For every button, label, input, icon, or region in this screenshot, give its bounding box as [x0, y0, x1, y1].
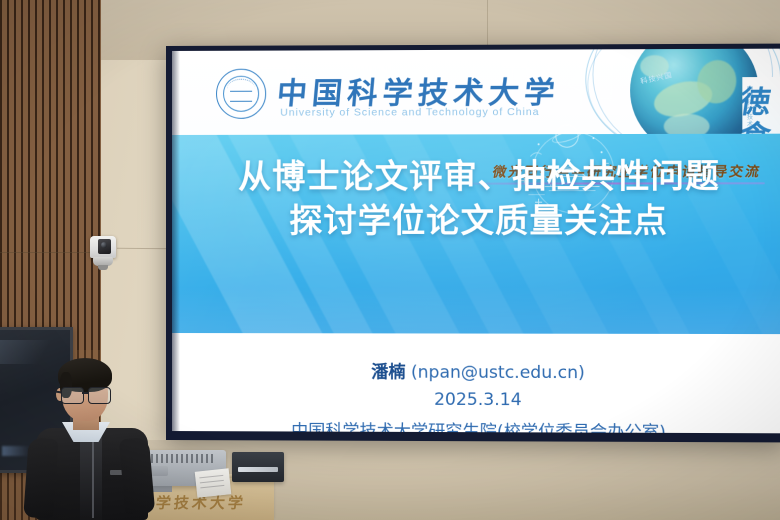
camera-lens-icon	[98, 239, 111, 254]
presenter-name: 潘楠	[371, 362, 405, 382]
slide-header: 中国科学技术大学 University of Science and Techn…	[172, 49, 780, 135]
globe-landmass	[663, 113, 709, 135]
university-name-en: University of Science and Technology of …	[280, 106, 539, 119]
corner-logo-char-2: 倉	[742, 111, 774, 135]
presenter-person	[18, 358, 168, 520]
presenter-right-arm	[119, 437, 156, 515]
projected-slide: 中国科学技术大学 University of Science and Techn…	[172, 49, 780, 434]
device-panel	[238, 467, 278, 472]
glasses-lens-right	[88, 387, 111, 404]
camera-mount	[98, 265, 108, 270]
slatted-wood-panel	[0, 0, 101, 350]
camera-wire	[0, 252, 95, 253]
globe-graphic	[630, 49, 759, 135]
ustc-seal-logo	[216, 69, 266, 119]
slide-footer: 潘楠 (npan@ustc.edu.cn) 2025.3.14 中国科学技术大学…	[172, 333, 780, 433]
camera-body	[90, 236, 116, 258]
glasses-bridge	[82, 392, 89, 394]
presenter-email: (npan@ustc.edu.cn)	[411, 363, 585, 384]
glasses-lens-left	[61, 387, 84, 404]
slide-title-line-2: 探讨学位论文质量关注点	[172, 198, 780, 243]
jacket-zipper	[92, 434, 94, 518]
paper-sheet	[195, 468, 232, 497]
presentation-date: 2025.3.14	[172, 389, 780, 411]
band-glow	[172, 287, 780, 334]
slide-title-line-1: 从博士论文评审、抽检共性问题	[172, 154, 780, 199]
screen-edge-shadow	[172, 51, 180, 431]
projection-screen-frame: 中国科学技术大学 University of Science and Techn…	[166, 44, 780, 443]
lecture-hall-scene: 中国科学技术大学 University of Science and Techn…	[0, 0, 780, 520]
presenter-organization: 中国科学技术大学研究生院(校学位委员会办公室)	[172, 416, 780, 433]
presenter-left-arm	[23, 437, 59, 519]
eyeglasses-icon	[60, 387, 112, 402]
wall-security-camera	[88, 236, 118, 270]
corner-calligraphy-logo: 中国科学技术大学 徳 倉	[742, 77, 780, 135]
seal-arc	[227, 79, 255, 89]
auxiliary-device	[232, 452, 284, 482]
presenter-line: 潘楠 (npan@ustc.edu.cn)	[172, 357, 780, 384]
slide-title: 从博士论文评审、抽检共性问题 探讨学位论文质量关注点	[172, 154, 780, 243]
